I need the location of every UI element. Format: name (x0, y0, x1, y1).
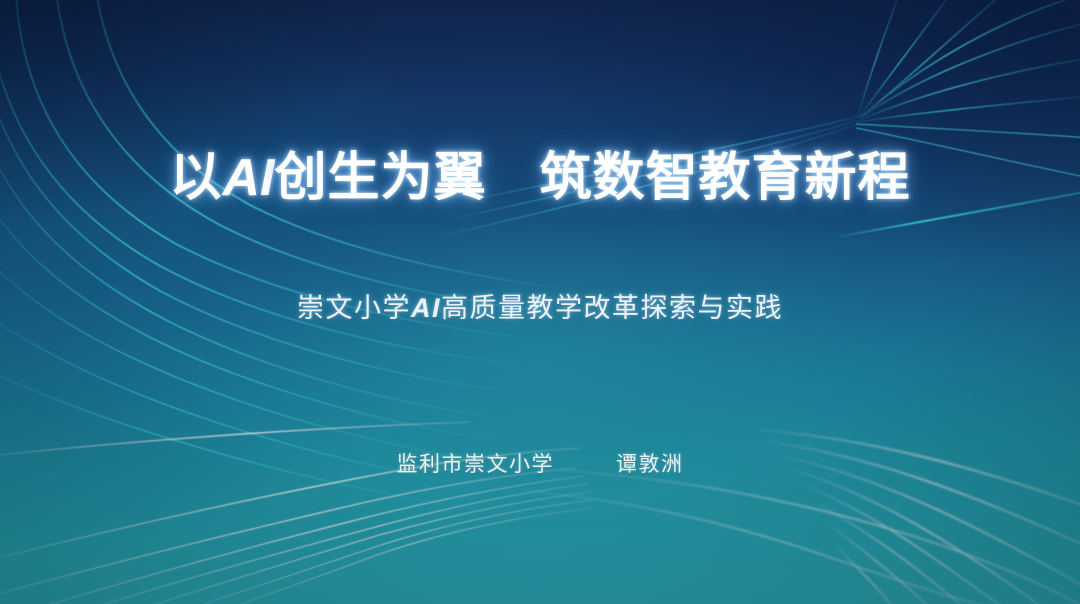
subtitle-pre: 崇文小学 (297, 293, 411, 323)
title-separator (487, 150, 540, 207)
title-part-1-pre: 以 (169, 150, 222, 207)
subtitle-latin: AI (411, 293, 441, 323)
title-slide: 以AI创生为翼 筑数智教育新程 崇文小学AI高质量教学改革探索与实践 监利市崇文… (0, 0, 1080, 604)
subtitle-post: 高质量教学改革探索与实践 (441, 293, 783, 323)
title-part-1-latin: AI (222, 149, 274, 207)
byline-presenter: 谭敦洲 (616, 452, 684, 476)
byline-organization: 监利市崇文小学 (397, 452, 555, 476)
slide-subtitle: 崇文小学AI高质量教学改革探索与实践 (0, 288, 1080, 328)
title-part-1-post: 创生为翼 (274, 150, 486, 207)
slide-byline: 监利市崇文小学谭敦洲 (0, 448, 1080, 480)
title-part-2: 筑数智教育新程 (540, 150, 911, 207)
slide-title: 以AI创生为翼 筑数智教育新程 (0, 146, 1080, 211)
